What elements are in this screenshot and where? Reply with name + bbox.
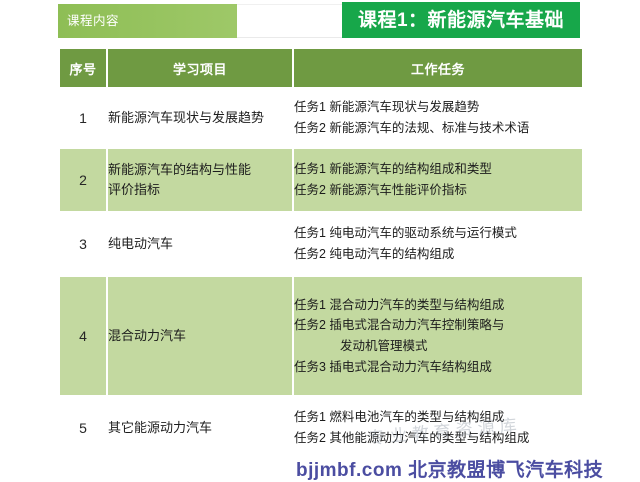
watermark-company: 北京教盟博飞汽车科技 — [408, 460, 603, 481]
task-line: 任务3 插电式混合动力汽车结构组成 — [294, 357, 582, 378]
task-line: 发动机管理模式 — [294, 336, 582, 357]
table-row: 4 混合动力汽车 任务1 混合动力汽车的类型与结构组成 任务2 插电式混合动力汽… — [60, 277, 582, 395]
row-item-cell: 其它能源动力汽车 — [108, 397, 292, 459]
column-header-task: 工作任务 — [294, 49, 582, 87]
table-header-row: 序号 学习项目 工作任务 — [60, 49, 582, 87]
table-body: 1 新能源汽车现状与发展趋势 任务1 新能源汽车现状与发展趋势 任务2 新能源汽… — [60, 89, 582, 459]
task-line: 任务1 纯电动汽车的驱动系统与运行模式 — [294, 223, 582, 244]
column-header-item: 学习项目 — [108, 49, 292, 87]
item-line: 其它能源动力汽车 — [108, 418, 292, 438]
row-item-cell: 混合动力汽车 — [108, 277, 292, 395]
table-row: 1 新能源汽车现状与发展趋势 任务1 新能源汽车现状与发展趋势 任务2 新能源汽… — [60, 89, 582, 147]
table-row: 3 纯电动汽车 任务1 纯电动汽车的驱动系统与运行模式 任务2 纯电动汽车的结构… — [60, 213, 582, 275]
task-line: 任务1 新能源汽车现状与发展趋势 — [294, 97, 582, 118]
item-line: 新能源汽车的结构与性能 — [108, 160, 292, 180]
page-title: 课程1：新能源汽车基础 — [358, 11, 564, 30]
course-content-table: 序号 学习项目 工作任务 1 新能源汽车现状与发展趋势 任务1 新能源汽车现状与… — [58, 47, 584, 461]
header-cn-pill: 课程内容 — [58, 4, 237, 38]
row-number: 3 — [60, 213, 106, 275]
table-row: 5 其它能源动力汽车 任务1 燃料电池汽车的类型与结构组成 任务2 其他能源动力… — [60, 397, 582, 459]
row-task-cell: 任务1 新能源汽车的结构组成和类型 任务2 新能源汽车性能评价指标 — [294, 149, 582, 211]
table-head: 序号 学习项目 工作任务 — [60, 49, 582, 87]
header-cn-label: 课程内容 — [67, 15, 119, 28]
item-line: 新能源汽车现状与发展趋势 — [108, 108, 292, 128]
row-task-cell: 任务1 混合动力汽车的类型与结构组成 任务2 插电式混合动力汽车控制策略与 发动… — [294, 277, 582, 395]
task-line: 任务1 燃料电池汽车的类型与结构组成 — [294, 407, 582, 428]
row-task-cell: 任务1 新能源汽车现状与发展趋势 任务2 新能源汽车的法规、标准与技术术语 — [294, 89, 582, 147]
item-line: 混合动力汽车 — [108, 326, 292, 346]
task-line: 任务2 插电式混合动力汽车控制策略与 — [294, 315, 582, 336]
row-item-cell: 纯电动汽车 — [108, 213, 292, 275]
item-line: 评价指标 — [108, 180, 292, 200]
row-task-cell: 任务1 燃料电池汽车的类型与结构组成 任务2 其他能源动力汽车的类型与结构组成 — [294, 397, 582, 459]
course-title-block: 课程1：新能源汽车基础 — [342, 2, 580, 38]
row-task-cell: 任务1 纯电动汽车的驱动系统与运行模式 任务2 纯电动汽车的结构组成 — [294, 213, 582, 275]
column-header-no: 序号 — [60, 49, 106, 87]
item-line: 纯电动汽车 — [108, 234, 292, 254]
row-number: 2 — [60, 149, 106, 211]
task-line: 任务1 新能源汽车的结构组成和类型 — [294, 159, 582, 180]
watermark-domain: bjjmbf.com — [296, 460, 402, 481]
row-item-cell: 新能源汽车现状与发展趋势 — [108, 89, 292, 147]
task-line: 任务2 纯电动汽车的结构组成 — [294, 244, 582, 265]
table-row: 2 新能源汽车的结构与性能 评价指标 任务1 新能源汽车的结构组成和类型 任务2… — [60, 149, 582, 211]
row-number: 5 — [60, 397, 106, 459]
row-number: 4 — [60, 277, 106, 395]
row-item-cell: 新能源汽车的结构与性能 评价指标 — [108, 149, 292, 211]
task-line: 任务2 新能源汽车的法规、标准与技术术语 — [294, 118, 582, 139]
row-number: 1 — [60, 89, 106, 147]
task-line: 任务2 其他能源动力汽车的类型与结构组成 — [294, 428, 582, 449]
task-line: 任务1 混合动力汽车的类型与结构组成 — [294, 295, 582, 316]
task-line: 任务2 新能源汽车性能评价指标 — [294, 180, 582, 201]
course-content-table-wrap: 序号 学习项目 工作任务 1 新能源汽车现状与发展趋势 任务1 新能源汽车现状与… — [58, 47, 578, 461]
